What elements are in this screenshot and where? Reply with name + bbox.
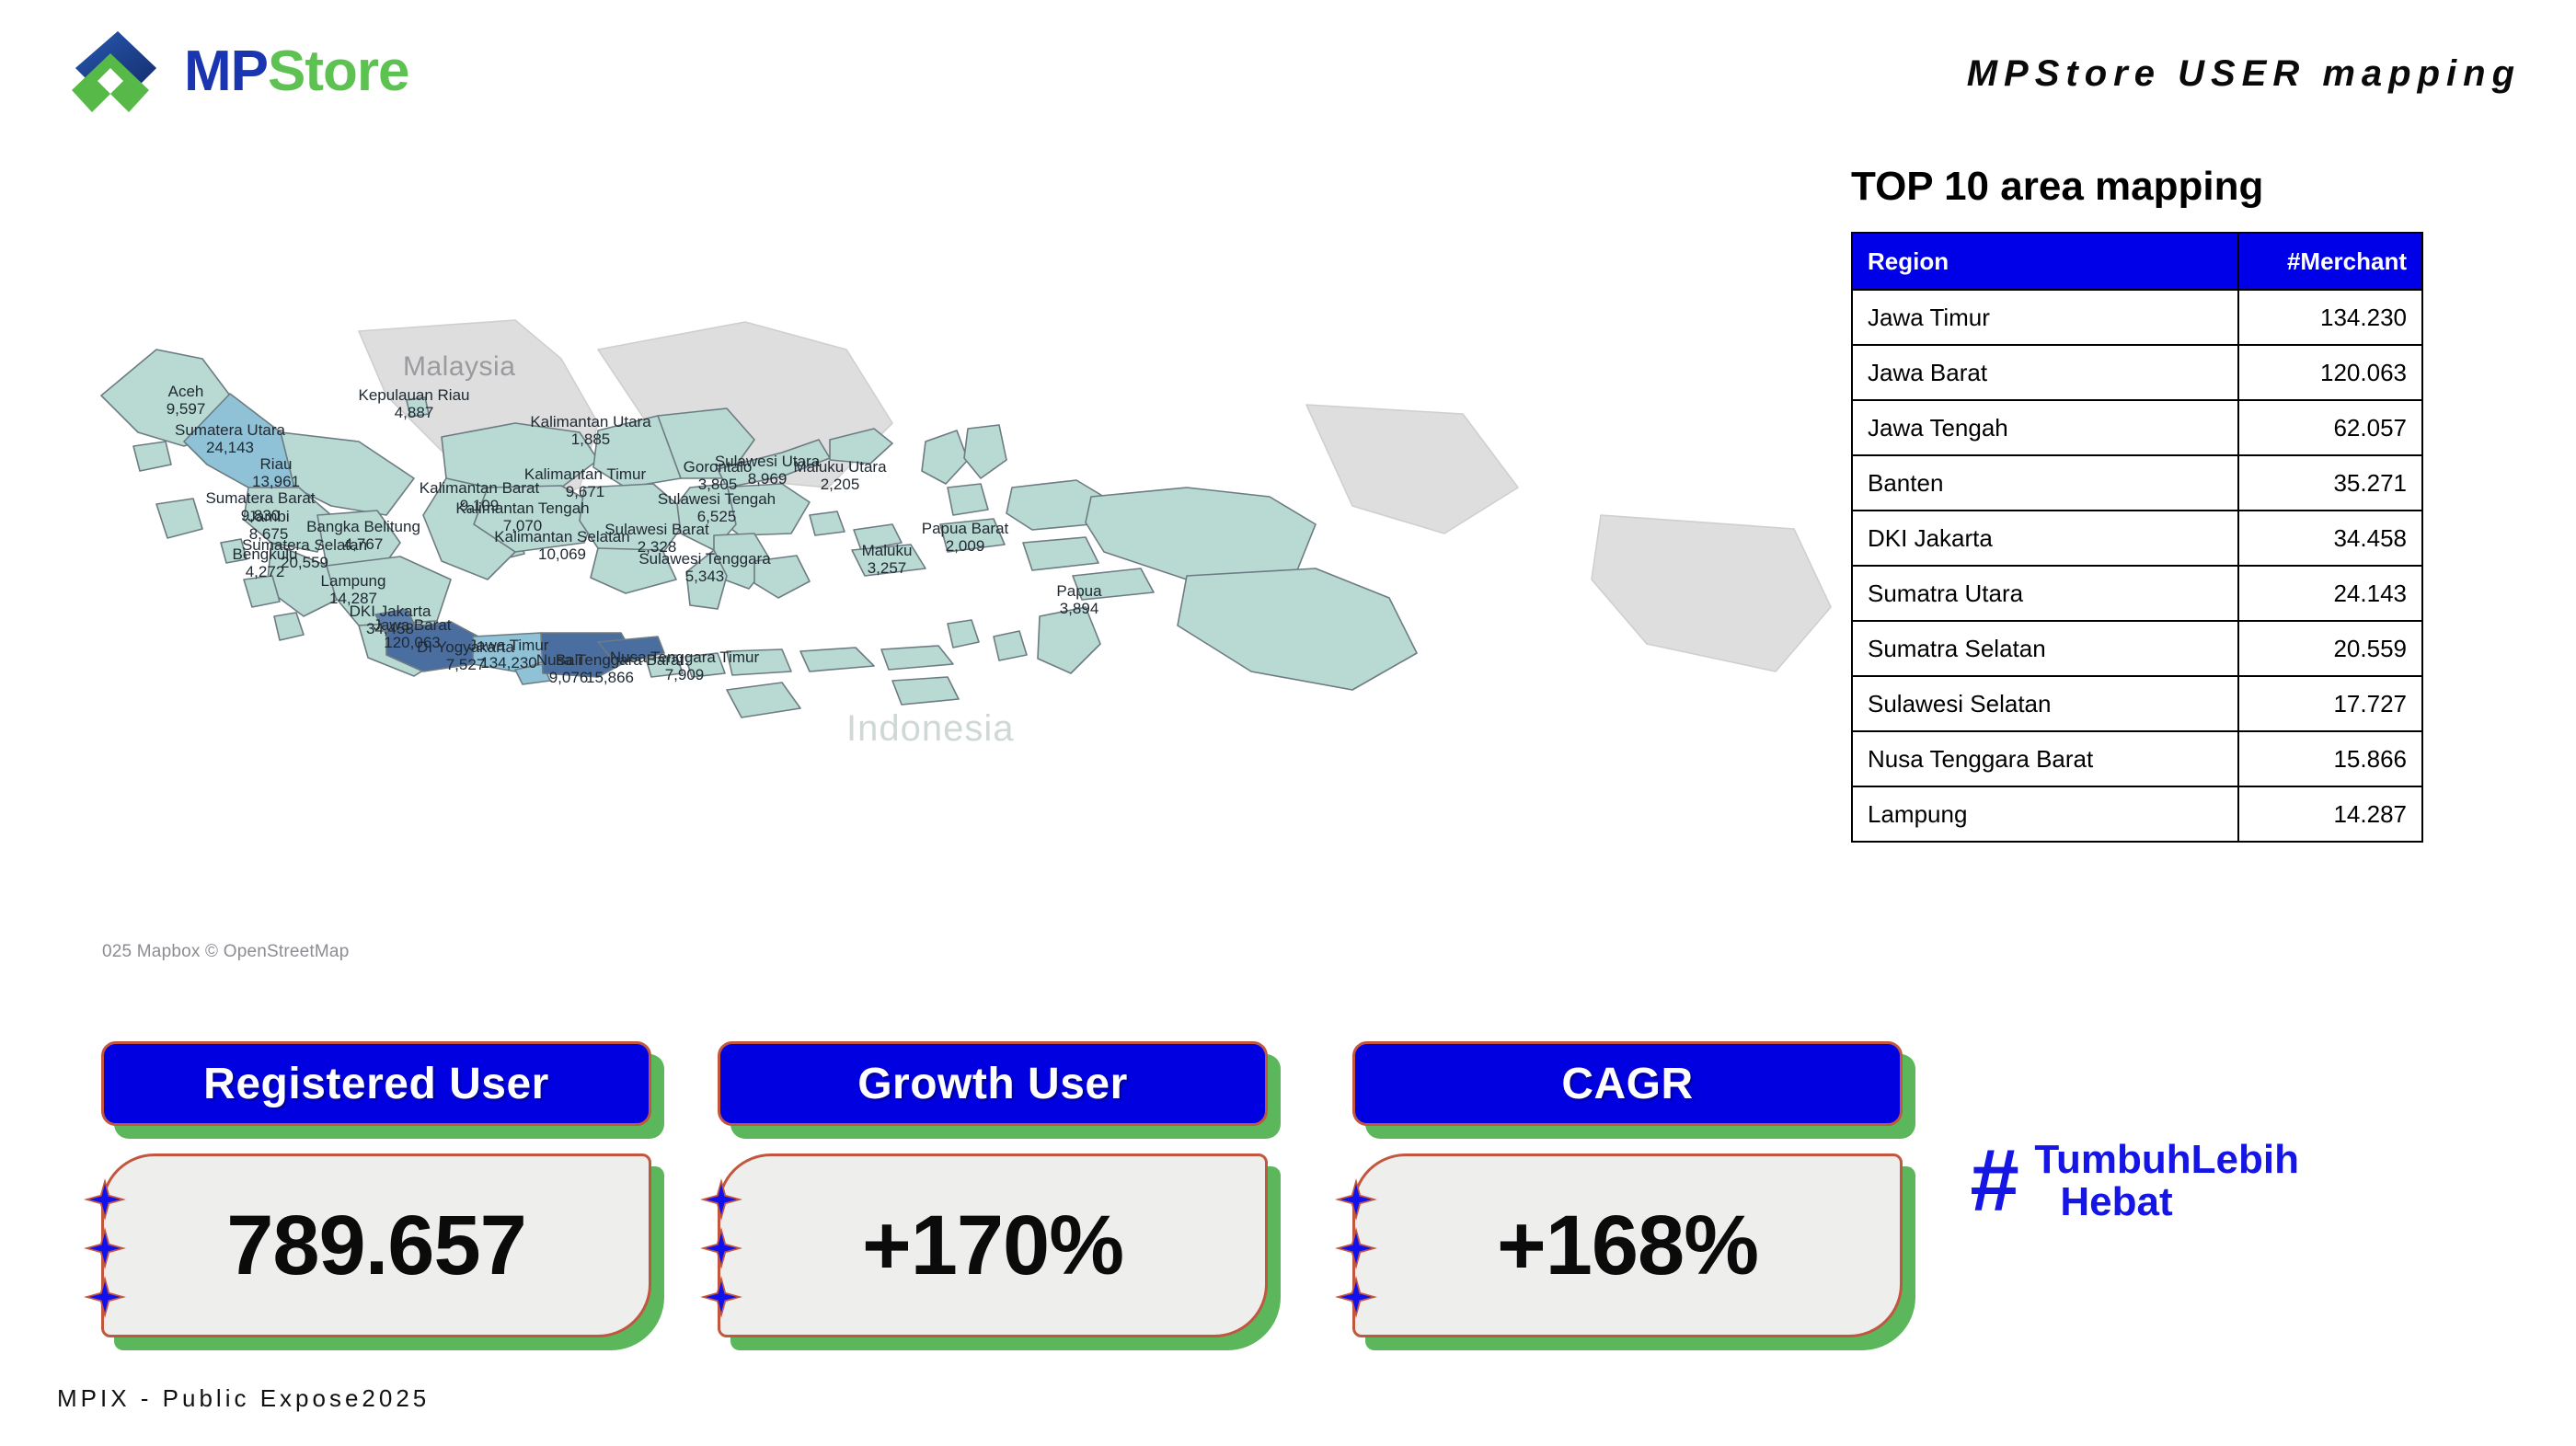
map-label-riau: Riau13,961 — [252, 455, 300, 490]
map-label-gorontalo: Gorontalo3,805 — [684, 458, 753, 493]
table-row: Sumatra Utara 24.143 — [1852, 566, 2422, 621]
kpi-value: +170% — [862, 1198, 1123, 1294]
column-header-merchant: #Merchant — [2238, 233, 2422, 290]
sparkle-group — [700, 1178, 742, 1318]
kpi-label: Registered User — [203, 1059, 549, 1109]
campaign-words: TumbuhLebih Hebat — [2034, 1139, 2299, 1223]
map-label-aceh: Aceh9,597 — [167, 383, 206, 418]
cell-merchant: 35.271 — [2238, 455, 2422, 511]
sparkle-group — [1335, 1178, 1377, 1318]
footer-text: MPIX - Public Expose2025 — [57, 1384, 430, 1413]
sparkle-icon — [1335, 1227, 1377, 1269]
sparkle-icon — [700, 1178, 742, 1221]
sparkle-icon — [1335, 1178, 1377, 1221]
kpi-card-growth-user: Growth User +170% — [708, 1041, 1268, 1337]
cell-region: DKI Jakarta — [1852, 511, 2238, 566]
hash-icon: # — [1969, 1141, 2018, 1222]
kpi-body: +168% — [1352, 1153, 1903, 1337]
map-label-kepulauan-riau: Kepulauan Riau4,887 — [359, 386, 470, 421]
campaign-line-1: TumbuhLebih — [2034, 1139, 2299, 1181]
top10-title: TOP 10 area mapping — [1851, 164, 2263, 210]
mpstore-diamond-logo-icon — [64, 26, 164, 118]
map-label-sulawesi-tenggara: Sulawesi Tenggara5,343 — [638, 550, 770, 585]
cell-merchant: 20.559 — [2238, 621, 2422, 676]
kpi-header: CAGR — [1352, 1041, 1903, 1126]
kpi-header: Registered User — [101, 1041, 651, 1126]
top10-table: Region #Merchant Jawa Timur 134.230 Jawa… — [1851, 232, 2423, 843]
map-label-sumatera-selatan: Sumatera Selatan20,559 — [242, 536, 367, 571]
cell-region: Sumatra Utara — [1852, 566, 2238, 621]
map-label-papua-barat: Papua Barat2,009 — [922, 520, 1009, 555]
table-header-row: Region #Merchant — [1852, 233, 2422, 290]
cell-region: Banten — [1852, 455, 2238, 511]
cell-merchant: 24.143 — [2238, 566, 2422, 621]
indonesia-choropleth-map[interactable]: Indonesia Aceh9,597 Sumatera Utara24,143… — [83, 212, 1849, 975]
top10-table-wrapper: Region #Merchant Jawa Timur 134.230 Jawa… — [1851, 232, 2421, 843]
cell-region: Jawa Barat — [1852, 345, 2238, 400]
deck-title: MPStore USER mapping — [1967, 53, 2521, 95]
campaign-line-2: Hebat — [2034, 1181, 2299, 1223]
cell-merchant: 120.063 — [2238, 345, 2422, 400]
sparkle-group — [84, 1178, 126, 1318]
cell-merchant: 62.057 — [2238, 400, 2422, 455]
table-row: Jawa Timur 134.230 — [1852, 290, 2422, 345]
kpi-label: CAGR — [1561, 1059, 1693, 1109]
table-row: Jawa Barat 120.063 — [1852, 345, 2422, 400]
cell-region: Jawa Tengah — [1852, 400, 2238, 455]
sparkle-icon — [84, 1276, 126, 1318]
table-row: Jawa Tengah 62.057 — [1852, 400, 2422, 455]
cell-merchant: 17.727 — [2238, 676, 2422, 731]
cell-merchant: 34.458 — [2238, 511, 2422, 566]
kpi-value: +168% — [1497, 1198, 1758, 1294]
map-label-nusa-tenggara-timur: Nusa Tenggara Timur7,909 — [610, 648, 759, 683]
kpi-body: 789.657 — [101, 1153, 651, 1337]
sparkle-icon — [700, 1276, 742, 1318]
cell-merchant: 14.287 — [2238, 786, 2422, 842]
map-label-sumatera-utara: Sumatera Utara24,143 — [175, 421, 285, 456]
map-label-papua: Papua3,894 — [1056, 582, 1101, 617]
column-header-region: Region — [1852, 233, 2238, 290]
table-row: DKI Jakarta 34.458 — [1852, 511, 2422, 566]
table-row: Sumatra Selatan 20.559 — [1852, 621, 2422, 676]
table-row: Banten 35.271 — [1852, 455, 2422, 511]
brand-name-secondary: Store — [268, 40, 408, 103]
kpi-header: Growth User — [718, 1041, 1268, 1126]
kpi-body: +170% — [718, 1153, 1268, 1337]
map-label-sulawesi-tengah: Sulawesi Tengah6,525 — [658, 490, 776, 525]
cell-region: Lampung — [1852, 786, 2238, 842]
kpi-card-registered-user: Registered User 789.657 — [92, 1041, 651, 1337]
cell-region: Jawa Timur — [1852, 290, 2238, 345]
sparkle-icon — [700, 1227, 742, 1269]
sparkle-icon — [84, 1227, 126, 1269]
map-label-maluku: Maluku3,257 — [862, 542, 913, 577]
brand-wordmark: MPStore — [184, 43, 408, 100]
map-attribution: 025 Mapbox © OpenStreetMap — [97, 940, 354, 964]
kpi-card-cagr: CAGR +168% — [1343, 1041, 1903, 1337]
brand-name-primary: MP — [184, 40, 268, 103]
cell-region: Nusa Tenggara Barat — [1852, 731, 2238, 786]
table-row: Lampung 14.287 — [1852, 786, 2422, 842]
brand-logo: MPStore — [64, 26, 408, 118]
map-label-maluku-utara: Maluku Utara2,205 — [793, 458, 886, 493]
cell-merchant: 15.866 — [2238, 731, 2422, 786]
cell-region: Sumatra Selatan — [1852, 621, 2238, 676]
kpi-label: Growth User — [857, 1059, 1128, 1109]
sparkle-icon — [1335, 1276, 1377, 1318]
cell-region: Sulawesi Selatan — [1852, 676, 2238, 731]
sparkle-icon — [84, 1178, 126, 1221]
map-label-kalimantan-timur: Kalimantan Timur9,671 — [524, 465, 646, 500]
map-label-kalimantan-utara: Kalimantan Utara1,885 — [530, 413, 650, 448]
table-row: Sulawesi Selatan 17.727 — [1852, 676, 2422, 731]
cell-merchant: 134.230 — [2238, 290, 2422, 345]
kpi-value: 789.657 — [226, 1198, 526, 1294]
slide-root: MPStore MPStore USER mapping — [0, 0, 2576, 1446]
map-label-malaysia: Malaysia — [403, 351, 515, 383]
campaign-hashtag-lockup: # TumbuhLebih Hebat — [1969, 1139, 2299, 1223]
table-row: Nusa Tenggara Barat 15.866 — [1852, 731, 2422, 786]
